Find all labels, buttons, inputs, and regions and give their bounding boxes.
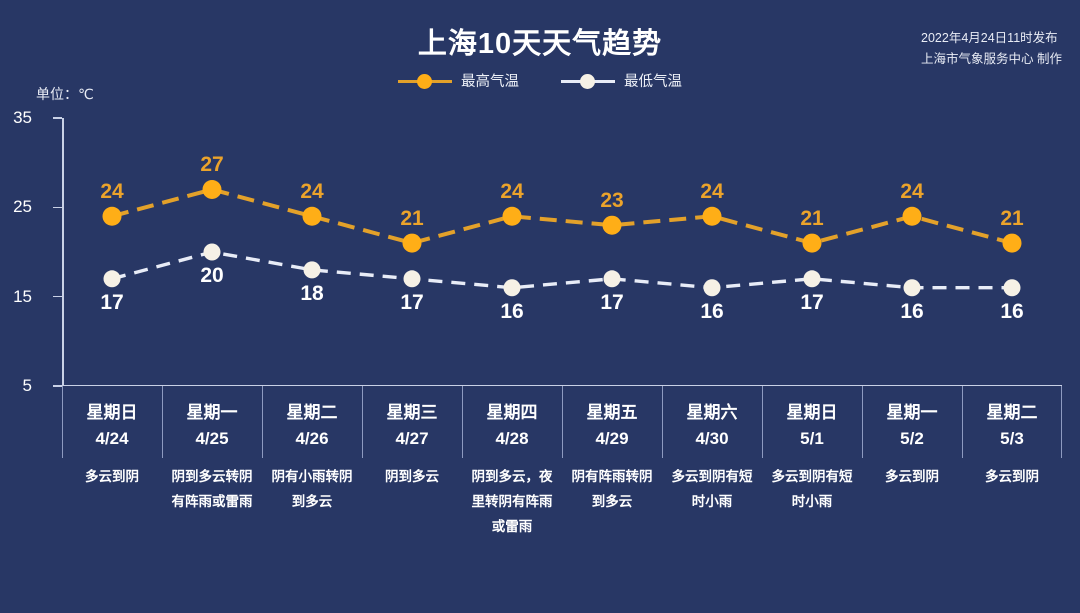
- high-temp-point: [603, 216, 622, 235]
- column-divider: [262, 386, 263, 458]
- low-temp-value: 16: [1000, 300, 1023, 324]
- low-temp-point: [904, 279, 921, 296]
- high-temp-point: [203, 180, 222, 199]
- low-temp-value: 16: [500, 300, 523, 324]
- weather-description: 阴到多云转阴有阵雨或雷雨: [168, 464, 256, 514]
- weather-description: 阴到多云: [368, 464, 456, 489]
- day-column[interactable]: 星期一5/2多云到阴: [862, 386, 962, 596]
- column-divider: [162, 386, 163, 458]
- low-temp-value: 17: [600, 291, 623, 315]
- high-temp-value: 24: [100, 180, 123, 204]
- low-temp-point: [704, 279, 721, 296]
- high-temp-point: [803, 234, 822, 253]
- high-temp-value: 24: [300, 180, 323, 204]
- weather-description: 阴到多云，夜里转阴有阵雨或雷雨: [468, 464, 556, 539]
- date-label: 4/30: [668, 426, 756, 452]
- legend-item-high: 最高气温: [398, 70, 519, 91]
- low-temp-value: 16: [900, 300, 923, 324]
- low-temp-value: 18: [300, 282, 323, 306]
- date-label: 5/1: [768, 426, 856, 452]
- low-temp-point: [104, 270, 121, 287]
- weather-description: 阴有阵雨转阴到多云: [568, 464, 656, 514]
- y-axis-tick-label: 35: [0, 108, 32, 128]
- weekday-label: 星期日: [68, 400, 156, 426]
- day-column[interactable]: 星期四4/28阴到多云，夜里转阴有阵雨或雷雨: [462, 386, 562, 596]
- date-label: 5/2: [868, 426, 956, 452]
- weekday-label: 星期三: [368, 400, 456, 426]
- date-label: 4/26: [268, 426, 356, 452]
- y-axis-tick-label: 15: [0, 287, 32, 307]
- column-divider: [1061, 386, 1062, 458]
- high-temp-point: [703, 207, 722, 226]
- legend-marker-high-icon: [398, 72, 452, 90]
- weekday-label: 星期日: [768, 400, 856, 426]
- high-temp-value: 21: [800, 207, 823, 231]
- issue-time: 2022年4月24日11时发布: [921, 28, 1062, 49]
- weekday-label: 星期四: [468, 400, 556, 426]
- column-divider: [62, 386, 63, 458]
- day-column[interactable]: 星期五4/29阴有阵雨转阴到多云: [562, 386, 662, 596]
- date-label: 4/25: [168, 426, 256, 452]
- low-temp-value: 16: [700, 300, 723, 324]
- y-axis-tick: [53, 385, 62, 387]
- weather-description: 多云到阴有短时小雨: [768, 464, 856, 514]
- low-temp-point: [1004, 279, 1021, 296]
- high-temp-value: 23: [600, 189, 623, 213]
- high-temp-value: 24: [900, 180, 923, 204]
- day-columns: 星期日4/24多云到阴星期一4/25阴到多云转阴有阵雨或雷雨星期二4/26阴有小…: [62, 386, 1062, 596]
- issue-info: 2022年4月24日11时发布 上海市气象服务中心 制作: [921, 28, 1062, 70]
- high-temp-point: [103, 207, 122, 226]
- y-axis-tick: [53, 117, 62, 119]
- low-temp-value: 20: [200, 264, 223, 288]
- low-temp-point: [304, 261, 321, 278]
- y-axis-tick-label: 25: [0, 197, 32, 217]
- day-column[interactable]: 星期二4/26阴有小雨转阴到多云: [262, 386, 362, 596]
- column-divider: [762, 386, 763, 458]
- weather-description: 多云到阴: [868, 464, 956, 489]
- chart-legend: 最高气温 最低气温: [0, 70, 1080, 91]
- weather-description: 多云到阴有短时小雨: [668, 464, 756, 514]
- weekday-label: 星期一: [168, 400, 256, 426]
- date-label: 4/29: [568, 426, 656, 452]
- weather-description: 多云到阴: [68, 464, 156, 489]
- high-temp-point: [403, 234, 422, 253]
- column-divider: [962, 386, 963, 458]
- high-temp-point: [303, 207, 322, 226]
- day-column[interactable]: 星期日4/24多云到阴: [62, 386, 162, 596]
- high-temp-line: [112, 189, 1012, 243]
- low-temp-point: [204, 244, 221, 261]
- low-temp-line: [112, 252, 1012, 288]
- y-axis-tick: [53, 207, 62, 209]
- column-divider: [862, 386, 863, 458]
- high-temp-value: 24: [500, 180, 523, 204]
- high-temp-point: [503, 207, 522, 226]
- y-axis-tick-label: 5: [0, 376, 32, 396]
- date-label: 4/24: [68, 426, 156, 452]
- y-axis-tick: [53, 296, 62, 298]
- day-column[interactable]: 星期六4/30多云到阴有短时小雨: [662, 386, 762, 596]
- legend-label-low: 最低气温: [624, 70, 682, 91]
- column-divider: [562, 386, 563, 458]
- plot-area: 5152535 24272421242324212421172018171617…: [62, 118, 1062, 386]
- weekday-label: 星期一: [868, 400, 956, 426]
- weather-description: 多云到阴: [968, 464, 1056, 489]
- low-temp-value: 17: [800, 291, 823, 315]
- column-divider: [362, 386, 363, 458]
- high-temp-point: [903, 207, 922, 226]
- high-temp-value: 21: [1000, 207, 1023, 231]
- day-column[interactable]: 星期一4/25阴到多云转阴有阵雨或雷雨: [162, 386, 262, 596]
- legend-label-high: 最高气温: [461, 70, 519, 91]
- producer: 上海市气象服务中心 制作: [921, 49, 1062, 70]
- weekday-label: 星期二: [268, 400, 356, 426]
- weekday-label: 星期五: [568, 400, 656, 426]
- low-temp-point: [604, 270, 621, 287]
- high-temp-point: [1003, 234, 1022, 253]
- page-title: 上海10天天气趋势: [0, 20, 1080, 62]
- weekday-label: 星期六: [668, 400, 756, 426]
- low-temp-value: 17: [100, 291, 123, 315]
- day-column[interactable]: 星期日5/1多云到阴有短时小雨: [762, 386, 862, 596]
- weather-trend-chart: 上海10天天气趋势 2022年4月24日11时发布 上海市气象服务中心 制作 最…: [0, 0, 1080, 613]
- weather-description: 阴有小雨转阴到多云: [268, 464, 356, 514]
- unit-label: 单位：℃: [36, 84, 94, 104]
- low-temp-point: [804, 270, 821, 287]
- low-temp-point: [404, 270, 421, 287]
- date-label: 4/28: [468, 426, 556, 452]
- date-label: 5/3: [968, 426, 1056, 452]
- high-temp-value: 24: [700, 180, 723, 204]
- legend-marker-low-icon: [561, 72, 615, 90]
- date-label: 4/27: [368, 426, 456, 452]
- weekday-label: 星期二: [968, 400, 1056, 426]
- low-temp-point: [504, 279, 521, 296]
- day-column[interactable]: 星期三4/27阴到多云: [362, 386, 462, 596]
- column-divider: [462, 386, 463, 458]
- column-divider: [662, 386, 663, 458]
- day-column[interactable]: 星期二5/3多云到阴: [962, 386, 1062, 596]
- low-temp-value: 17: [400, 291, 423, 315]
- high-temp-value: 27: [200, 153, 223, 177]
- high-temp-value: 21: [400, 207, 423, 231]
- legend-item-low: 最低气温: [561, 70, 682, 91]
